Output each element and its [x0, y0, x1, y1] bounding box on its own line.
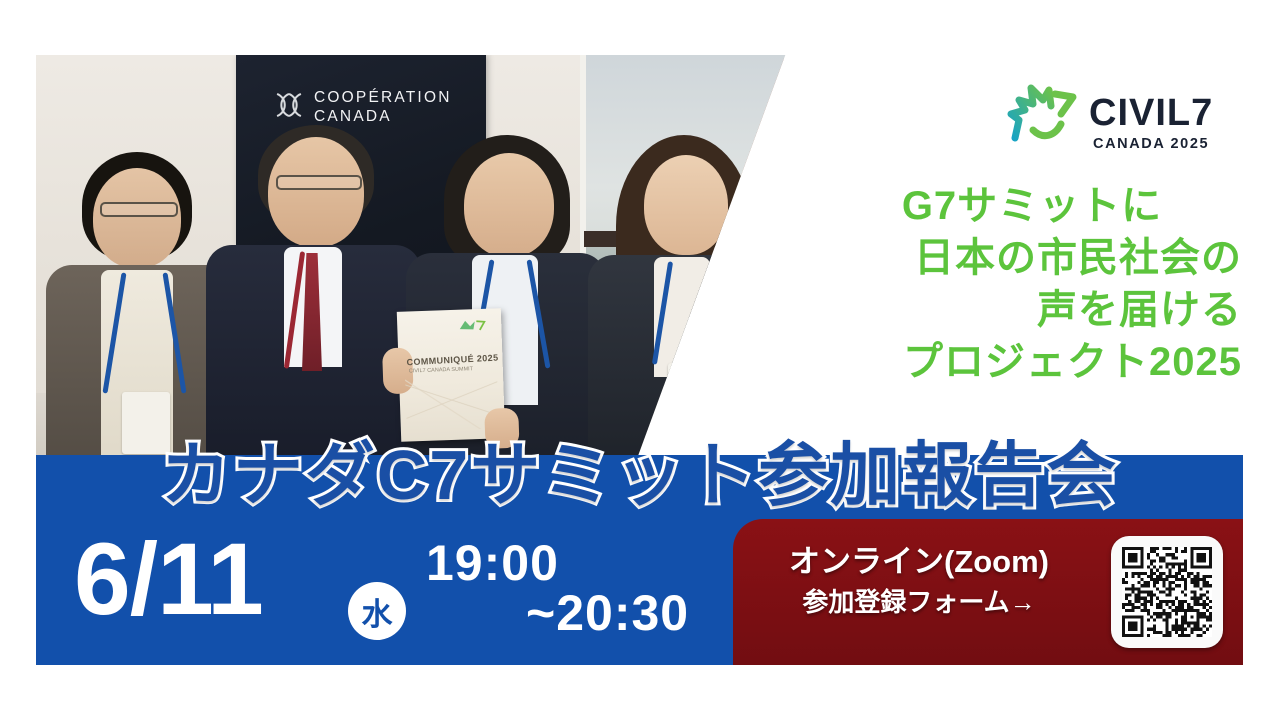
qr-code-card[interactable] — [1111, 536, 1223, 648]
event-title-text: カナダC7サミット参加報告会 — [161, 419, 1118, 520]
qr-code[interactable] — [1122, 547, 1212, 637]
head — [93, 168, 181, 268]
banner-text-line1: COOPÉRATION — [314, 88, 452, 107]
document-title: COMMUNIQUÉ 2025 — [406, 353, 498, 368]
headline-copy: G7サミットに 日本の市民社会の 声を届ける プロジェクト2025 — [822, 180, 1242, 388]
registration-line-1: オンライン(Zoom) — [769, 541, 1069, 583]
event-time-end: ~20:30 — [526, 588, 689, 638]
banner-text-line2: CANADA — [314, 107, 452, 126]
glasses-icon — [276, 175, 362, 190]
name-badge — [668, 363, 708, 415]
civil7-logo: CIVIL7 CANADA 2025 — [1005, 78, 1220, 160]
head — [644, 155, 728, 255]
registration-panel[interactable]: オンライン(Zoom) 参加登録フォーム→ — [733, 519, 1243, 665]
civil7-leaf-icon — [1005, 80, 1079, 150]
headline-line-1: G7サミットに — [822, 180, 1242, 232]
head — [268, 137, 364, 247]
headline-line-2: 日本の市民社会の — [822, 232, 1242, 284]
registration-line-2: 参加登録フォーム→ — [769, 583, 1069, 621]
event-time-start: 19:00 — [426, 538, 559, 588]
head — [464, 153, 554, 257]
civil7-country-line: CANADA 2025 — [1093, 136, 1209, 152]
civil7-small-logo-icon — [457, 317, 490, 336]
civil7-wordmark: CIVIL7 — [1089, 94, 1213, 132]
event-date: 6/11 — [74, 528, 263, 630]
headline-line-4: プロジェクト2025 — [822, 336, 1242, 388]
day-of-week-badge: 水 — [348, 582, 406, 640]
cooperation-canada-logo-icon — [272, 90, 306, 120]
headline-line-3: 声を届ける — [822, 284, 1242, 336]
poster-canvas: COOPÉRATION CANADA — [0, 0, 1280, 720]
registration-copy: オンライン(Zoom) 参加登録フォーム→ — [769, 541, 1069, 621]
banner-text: COOPÉRATION CANADA — [314, 88, 452, 126]
schedule-block: 6/11 水 19:00 ~20:30 — [36, 520, 736, 660]
glasses-icon — [100, 202, 178, 217]
event-title: カナダC7サミット参加報告会 — [36, 425, 1243, 513]
